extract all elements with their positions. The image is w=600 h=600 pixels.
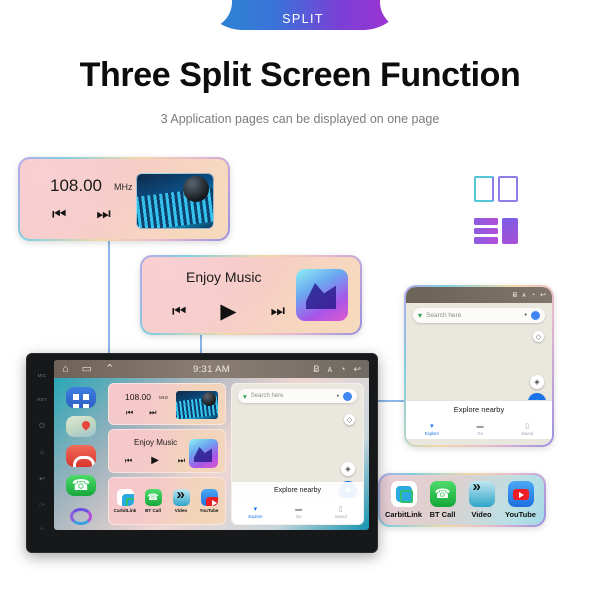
map-pin-icon: ▾ [418,311,422,320]
dock-label-youtube: YouTube [505,510,536,519]
device-app-rail: ☎ [59,383,103,525]
nav-item-explore[interactable]: ▾ Explore [425,423,439,436]
maps-pane-search-placeholder: Search here [251,393,333,399]
car-head-unit-device: MIC RST ⏻ ⌂ ↩ ○+ ○- ⌂ ▭ ⌃ 9:31 AM Ƀ ᴀ ◔ … [26,353,378,553]
back-icon[interactable]: ↩ [540,292,546,299]
music-pane-controls: ⏮ ▶ ⏭ [125,455,185,466]
avatar-icon[interactable] [531,311,540,320]
skip-next-icon[interactable]: ⏭ [271,304,285,320]
dock-app-video[interactable]: Video [169,489,194,513]
two-pane-book-icon[interactable] [474,176,518,204]
dock-app-bt-call[interactable]: ☎ BT Call [424,481,462,519]
radio-pane-controls: ⏮ ⏭ [126,408,156,418]
nav-item-go[interactable]: ▬ Go [295,506,302,519]
phone-icon: ☎ [145,489,162,506]
split-right-column [502,218,518,244]
device-screen: ⌂ ▭ ⌃ 9:31 AM Ƀ ᴀ ◔ ↩ ☎ [54,360,369,530]
device-chin [54,532,369,548]
explore-nearby-label[interactable]: Explore nearby [406,400,552,417]
split-left-column [474,218,498,244]
video-icon [173,489,190,506]
split-panes: 108.00 MHz ⏮ ⏭ Enjoy Music ⏮ ▶ [108,383,364,525]
wifi-icon: ◔ [340,365,345,374]
signal-icon: ᴀ [328,365,332,374]
go-commute-icon: ▬ [477,423,484,430]
dock-callout-card: CarbitLink ☎ BT Call Video YouTube [378,473,546,527]
dock-label-video: Video [471,510,491,519]
radio-frequency: 108.00 [50,176,102,196]
side-button-rst[interactable]: RST [37,398,47,403]
three-split-layout-icon[interactable] [474,218,518,244]
avatar-icon[interactable] [343,392,352,401]
back-icon[interactable]: ↩ [39,476,45,483]
dock-pane: CarbitLink ☎ BT Call Video YouTube [108,477,226,525]
nav-label-saved: Saved [521,431,533,436]
status-bar-right-icons: Ƀ ᴀ ◔ ↩ [314,365,361,374]
play-icon[interactable]: ▶ [151,455,159,466]
audio-mixer-thumbnail [176,391,218,419]
phone-icon[interactable]: ☎ [66,475,96,496]
skip-next-icon[interactable]: ⏭ [178,456,185,466]
explore-nearby-label[interactable]: Explore nearby [232,482,363,498]
explore-pin-icon: ▾ [430,423,434,430]
dock-label-bt-call: BT Call [145,508,161,513]
skip-previous-icon[interactable]: ⏮ [172,304,186,320]
dock-label-carbitlink: CarbitLink [385,510,422,519]
music-callout-card: Enjoy Music ⏮ ▶ ⏭ [140,255,362,335]
microphone-icon[interactable]: • [337,393,339,400]
play-icon[interactable]: ▶ [220,301,236,322]
skip-previous-icon[interactable]: ⏮ [52,207,66,223]
music-pane[interactable]: Enjoy Music ⏮ ▶ ⏭ [108,429,226,473]
dock-label-youtube: YouTube [200,508,219,513]
maps-icon[interactable] [66,416,96,437]
dock-app-video[interactable]: Video [463,481,501,519]
compass-icon[interactable]: ◈ [530,375,544,389]
maps-bottom-nav: ▾ Explore ▬ Go ▯ Saved [406,417,552,439]
dock-label-video: Video [175,508,187,513]
nav-label-explore: Explore [425,431,439,436]
dock-app-bt-call[interactable]: ☎ BT Call [141,489,166,513]
dock-app-youtube[interactable]: YouTube [197,489,222,513]
signal-icon: ᴀ [522,292,525,299]
home-icon[interactable]: ⌂ [40,449,44,456]
radio-pane-unit: MHz [159,395,168,400]
nav-item-explore[interactable]: ▾ Explore [248,506,262,519]
ribbon-wing-right [380,0,414,30]
music-icon[interactable] [66,445,96,466]
nav-item-saved[interactable]: ▯ Saved [521,423,533,436]
power-icon[interactable]: ⏻ [39,423,45,430]
side-button-mic[interactable]: MIC [38,374,47,379]
dock-app-carbitlink[interactable]: CarbitLink [385,481,423,519]
book-page-left [474,176,494,202]
layers-icon[interactable]: ◇ [533,331,544,342]
split-badge-label: SPLIT [282,12,324,26]
volume-up-button[interactable]: ○+ [39,503,45,508]
maps-callout-status-bar: Ƀ ᴀ ◔ ↩ [406,287,552,303]
music-title: Enjoy Music [186,269,261,285]
apps-grid-icon[interactable] [66,387,96,408]
back-icon[interactable]: ↩ [353,365,361,374]
nav-label-saved: Saved [335,514,347,519]
loading-ring-icon [70,508,92,525]
radio-frequency-unit: MHz [114,182,133,192]
nav-label-explore: Explore [248,514,262,519]
device-screen-body: ☎ 108.00 MHz ⏮ ⏭ Enjoy Music [54,378,369,530]
wifi-icon: ◔ [531,292,535,299]
carbitlink-icon [117,489,134,506]
dock-app-youtube[interactable]: YouTube [502,481,540,519]
nav-item-go[interactable]: ▬ Go [477,423,484,436]
audio-mixer-thumbnail [136,173,214,229]
map-pin-icon: ▾ [243,392,247,401]
microphone-icon[interactable]: • [525,312,527,319]
album-art [189,439,218,468]
youtube-icon [508,481,534,507]
radio-pane[interactable]: 108.00 MHz ⏮ ⏭ [108,383,226,425]
nav-item-saved[interactable]: ▯ Saved [335,506,347,519]
device-status-bar: ⌂ ▭ ⌃ 9:31 AM Ƀ ᴀ ◔ ↩ [54,360,369,378]
radio-pane-frequency: 108.00 [125,392,151,402]
nav-label-go: Go [477,431,483,436]
saved-bookmark-icon: ▯ [525,423,529,430]
maps-search-input[interactable]: ▾ Search here • [413,308,545,323]
book-page-right [498,176,518,202]
radio-callout-card: 108.00 MHz ⏮ ⏭ [18,157,230,241]
page-title: Three Split Screen Function [0,56,600,95]
nav-label-go: Go [296,514,302,519]
carbitlink-icon [391,481,417,507]
maps-pane-search-input[interactable]: ▾ Search here • [238,389,357,403]
compass-icon[interactable]: ◈ [341,462,355,476]
music-transport-controls: ⏮ ▶ ⏭ [172,301,285,322]
device-side-buttons: MIC RST ⏻ ⌂ ↩ ○+ ○- [31,359,53,547]
skip-previous-icon[interactable]: ⏮ [125,456,132,466]
bluetooth-icon: Ƀ [513,292,518,299]
saved-bookmark-icon: ▯ [339,506,343,513]
album-art [296,269,348,321]
go-commute-icon: ▬ [295,506,302,513]
layout-mode-icons [474,176,518,244]
split-left-stack: 108.00 MHz ⏮ ⏭ Enjoy Music ⏮ ▶ [108,383,226,525]
skip-next-icon[interactable]: ⏭ [149,408,156,418]
maps-pane[interactable]: ▾ Search here • ◇ ◈ ◆ Explore nearby ▾ E… [231,383,364,525]
split-bar [474,228,498,235]
bluetooth-icon: Ƀ [314,365,320,374]
dock-label-carbitlink: CarbitLink [114,508,137,513]
youtube-icon [201,489,218,506]
volume-down-button[interactable]: ○- [40,527,45,532]
phone-icon: ☎ [430,481,456,507]
dock-app-carbitlink[interactable]: CarbitLink [113,489,138,513]
split-bar [474,218,498,225]
video-icon [469,481,495,507]
dock-label-bt-call: BT Call [430,510,456,519]
music-pane-title: Enjoy Music [134,438,177,447]
maps-callout-card: Ƀ ᴀ ◔ ↩ ▾ Search here • ◇ ◈ ◆ Explore ne… [404,285,554,447]
skip-previous-icon[interactable]: ⏮ [126,408,133,418]
split-bar [474,237,498,244]
radio-transport-controls: ⏮ ⏭ [52,207,111,223]
skip-next-icon[interactable]: ⏭ [96,207,110,223]
split-badge: SPLIT [210,0,396,30]
layers-icon[interactable]: ◇ [344,414,355,425]
maps-search-placeholder: Search here [426,312,521,319]
explore-pin-icon: ▾ [254,506,258,513]
maps-pane-bottom-nav: ▾ Explore ▬ Go ▯ Saved [232,498,363,524]
page-subtitle: 3 Application pages can be displayed on … [0,112,600,126]
